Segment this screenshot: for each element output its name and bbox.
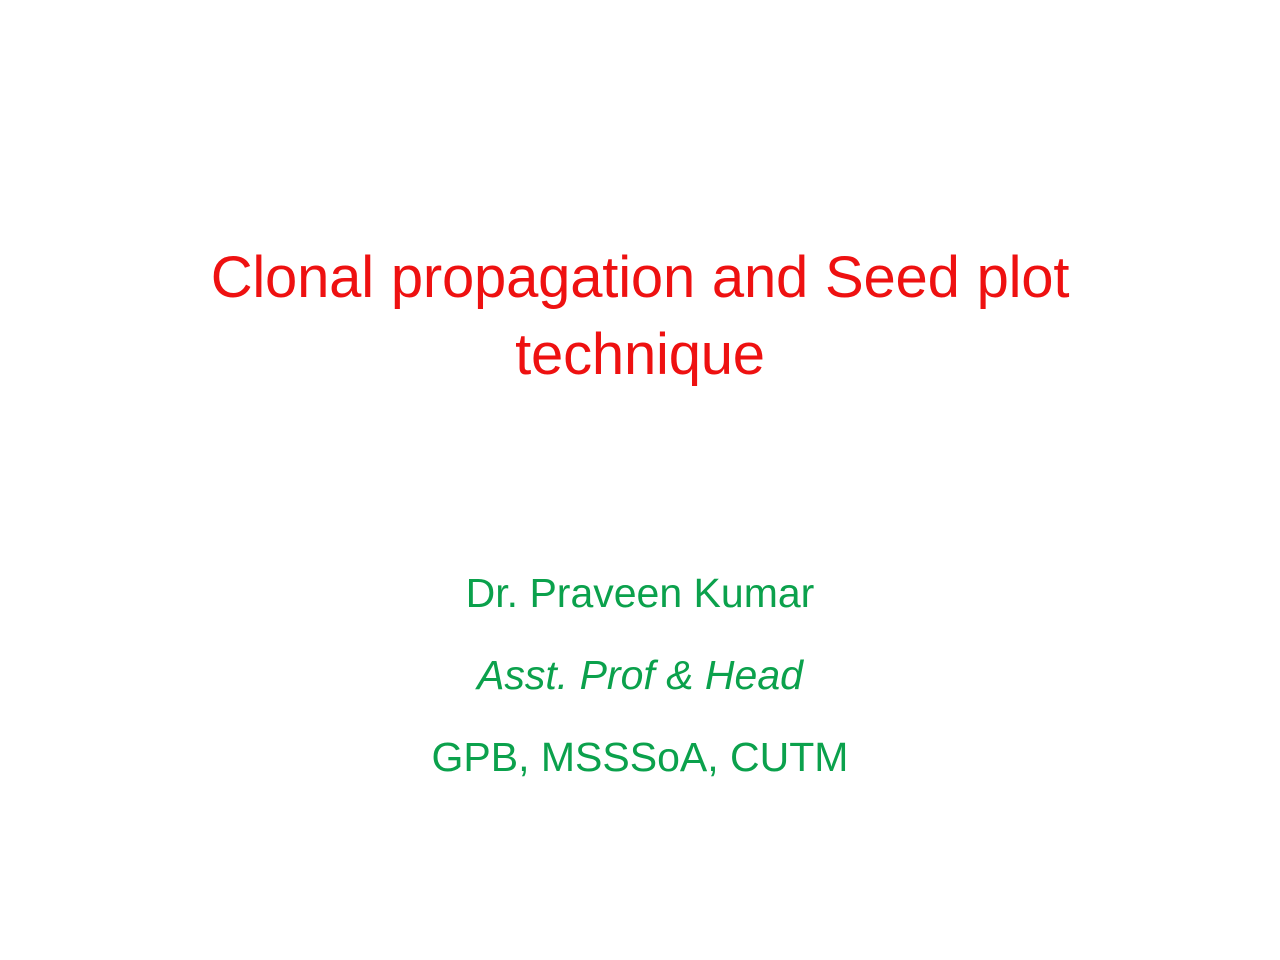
subtitle-line-presenter-name: Dr. Praveen Kumar	[128, 552, 1152, 634]
subtitle-placeholder[interactable]: Dr. Praveen Kumar Asst. Prof & Head GPB,…	[128, 552, 1152, 798]
subtitle-line-presenter-designation: Asst. Prof & Head	[128, 634, 1152, 716]
title-placeholder[interactable]: Clonal propagation and Seed plot techniq…	[128, 240, 1152, 393]
slide-title: Clonal propagation and Seed plot techniq…	[128, 240, 1152, 393]
presentation-slide: Clonal propagation and Seed plot techniq…	[0, 0, 1280, 960]
subtitle-line-presenter-affiliation: GPB, MSSSoA, CUTM	[128, 716, 1152, 798]
